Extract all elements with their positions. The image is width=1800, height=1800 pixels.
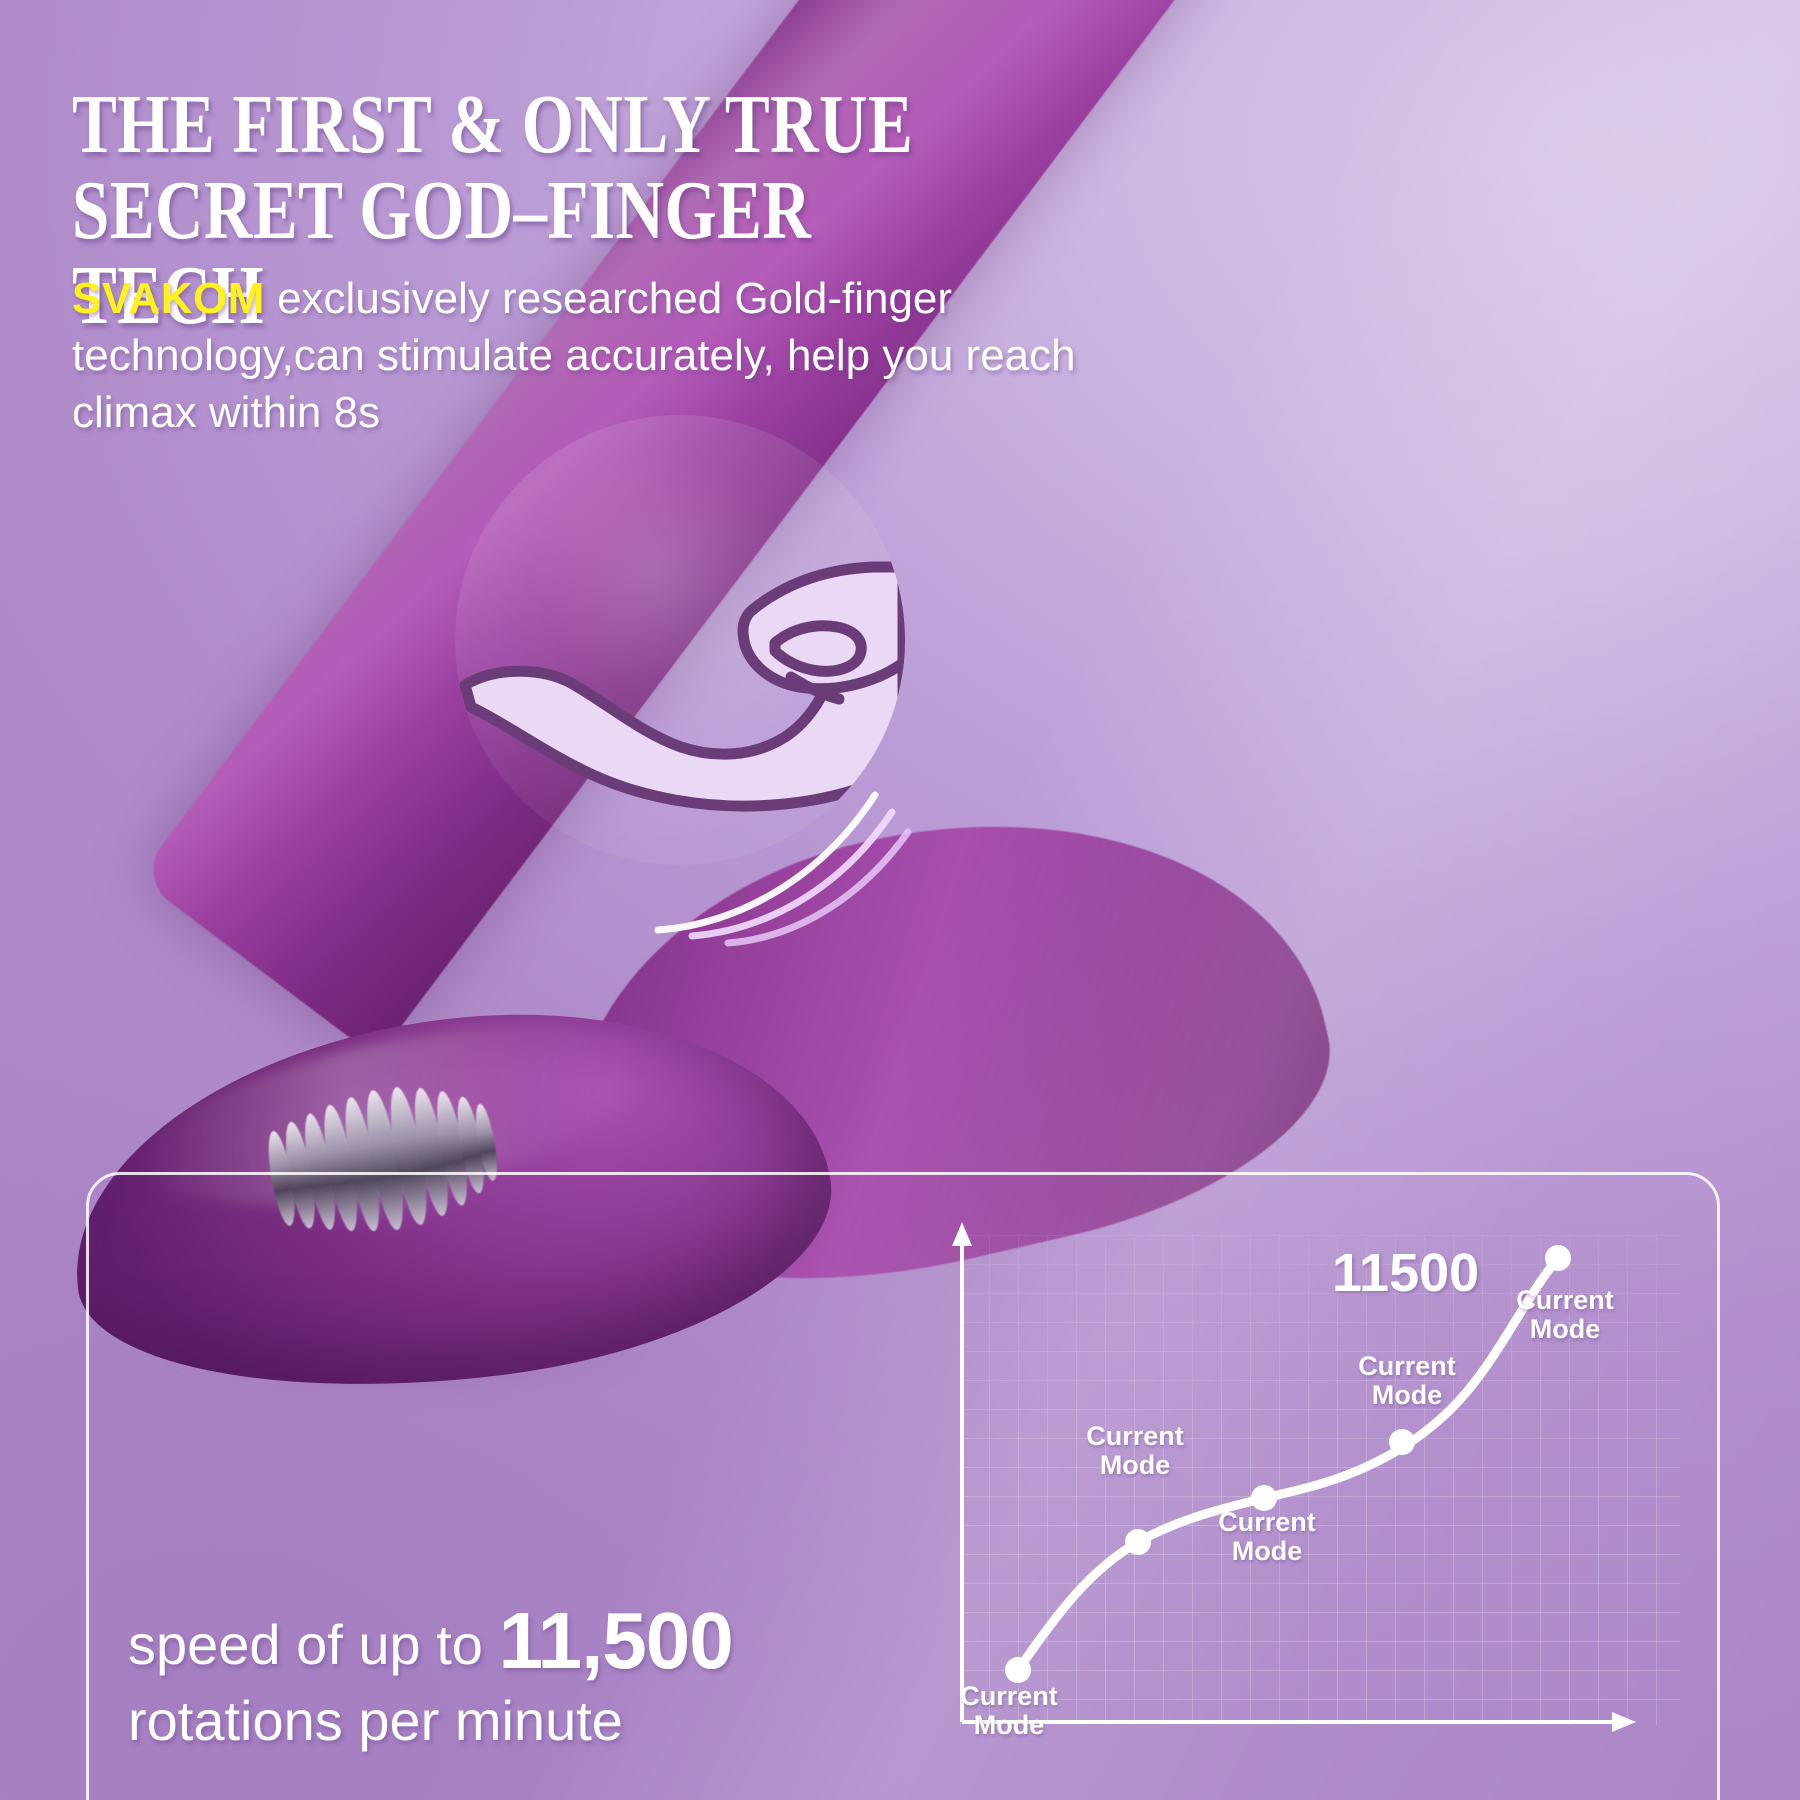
description-text: SVAKOM exclusively researched Gold-finge…	[72, 270, 1082, 442]
chart-peak-label: 11500	[1332, 1242, 1479, 1304]
speed-chart: 11500 Current Mode Current Mode Current …	[930, 1090, 1730, 1790]
hand-illustration-circle	[455, 415, 905, 865]
brand-name: SVAKOM	[72, 274, 265, 323]
chart-point-label-4: Current Mode	[1342, 1352, 1472, 1410]
x-axis-arrow	[1612, 1712, 1636, 1732]
chart-point-label-2: Current Mode	[1070, 1422, 1200, 1480]
promo-graphic: THE FIRST & ONLY TRUE SECRET GOD–FINGER …	[0, 0, 1800, 1800]
speed-prefix: speed of up to	[128, 1613, 499, 1676]
speed-suffix: rotations per minute	[128, 1689, 623, 1752]
speed-callout: speed of up to 11,500 rotations per minu…	[128, 1594, 908, 1754]
chart-point-label-1: Current Mode	[944, 1682, 1074, 1740]
y-axis-arrow	[952, 1222, 972, 1246]
chart-point-label-5: Current Mode	[1500, 1286, 1630, 1344]
hand-finger-icon	[455, 415, 905, 865]
speed-value: 11,500	[499, 1596, 733, 1685]
chart-point-label-3: Current Mode	[1202, 1508, 1332, 1566]
